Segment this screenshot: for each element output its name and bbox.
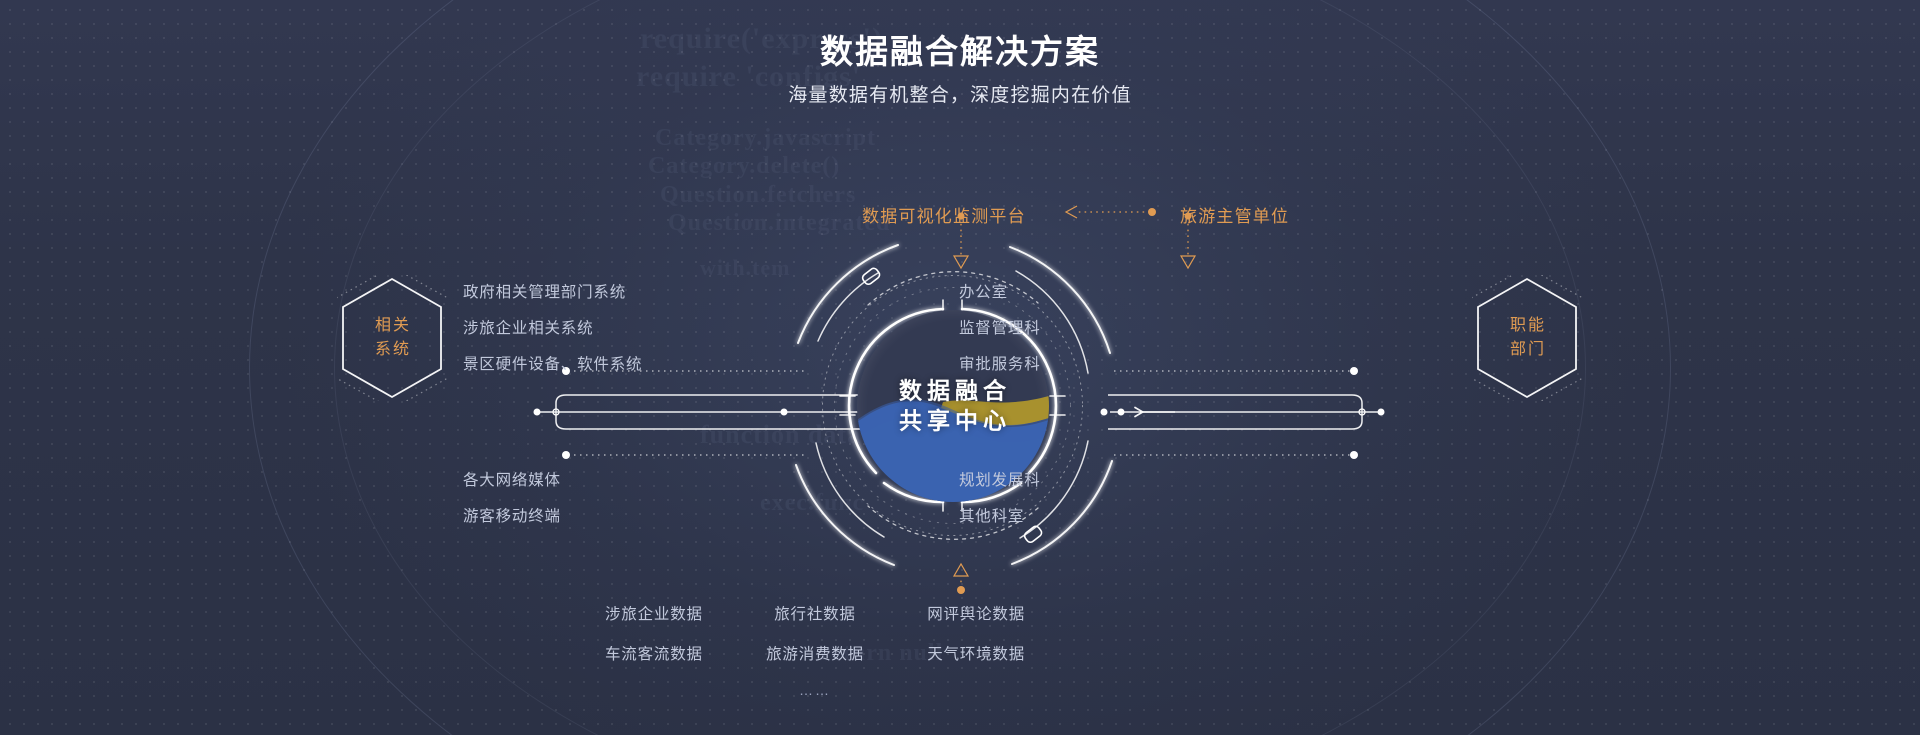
page-subtitle: 海量数据有机整合，深度挖掘内在价值: [0, 84, 1920, 109]
node-right-hexagon-label: 职能 部门: [1472, 275, 1582, 401]
heading-block: 数据融合解决方案 海量数据有机整合，深度挖掘内在价值: [0, 32, 1920, 108]
node-left-hexagon-label: 相关 系统: [337, 275, 447, 401]
right-department-item-1: 监督管理科: [959, 316, 1041, 338]
bottom-ellipsis: ……: [605, 682, 1025, 698]
infographic-stage: require('express') require 'configs' Cat…: [0, 0, 1920, 735]
bottom-data-cell: 旅行社数据: [755, 602, 875, 624]
left-source-item-4: 游客移动终端: [463, 504, 561, 526]
label-visualization-platform[interactable]: 数据可视化监测平台: [862, 202, 1026, 227]
node-right-hexagon[interactable]: 职能 部门: [1472, 275, 1582, 401]
bottom-data-grid: 涉旅企业数据 旅行社数据 网评舆论数据 车流客流数据 旅游消费数据 天气环境数据…: [605, 602, 1025, 698]
right-department-item-4: 其他科室: [959, 504, 1024, 526]
hex-left-line1: 相关: [373, 314, 411, 338]
right-department-item-3: 规划发展科: [959, 468, 1041, 490]
bottom-data-cell: 涉旅企业数据: [605, 602, 725, 624]
bottom-data-cell: 网评舆论数据: [905, 602, 1025, 624]
left-source-item-0: 政府相关管理部门系统: [463, 280, 626, 302]
hex-right-line2: 部门: [1508, 338, 1546, 362]
left-source-item-3: 各大网络媒体: [463, 468, 561, 490]
hex-left-line2: 系统: [373, 338, 411, 362]
node-left-hexagon[interactable]: 相关 系统: [337, 275, 447, 401]
left-source-item-2: 景区硬件设备、软件系统: [463, 352, 642, 374]
hex-right-line1: 职能: [1508, 314, 1546, 338]
bottom-data-cell: 旅游消费数据: [755, 642, 875, 664]
bottom-data-row: 涉旅企业数据 旅行社数据 网评舆论数据: [605, 602, 1025, 624]
label-tourism-authority[interactable]: 旅游主管单位: [1180, 202, 1289, 227]
bottom-data-cell: 车流客流数据: [605, 642, 725, 664]
bottom-data-row: 车流客流数据 旅游消费数据 天气环境数据: [605, 642, 1025, 664]
right-department-item-0: 办公室: [959, 280, 1008, 302]
left-source-item-1: 涉旅企业相关系统: [463, 316, 593, 338]
central-hub-graphic: 数据融合 共享中心: [780, 233, 1125, 578]
bottom-data-cell: 天气环境数据: [905, 642, 1025, 664]
page-title: 数据融合解决方案: [0, 32, 1920, 72]
right-department-item-2: 审批服务科: [959, 352, 1041, 374]
